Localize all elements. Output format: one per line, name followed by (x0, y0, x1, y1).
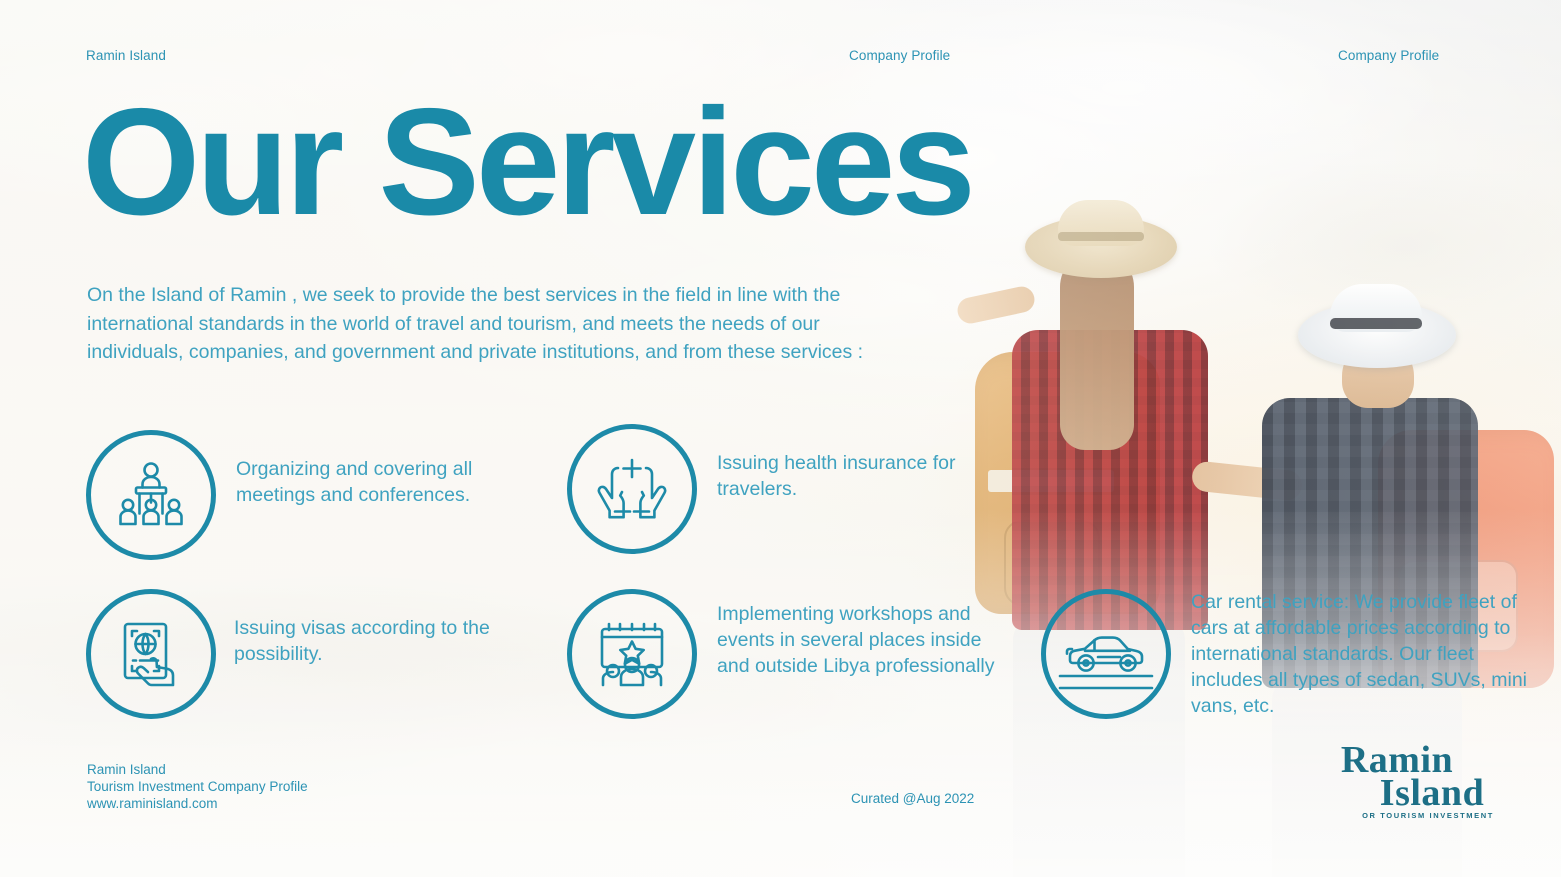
hands-medical-cross-icon (567, 424, 697, 554)
footer-curated-date: Curated @Aug 2022 (851, 791, 974, 806)
slide-canvas: Ramin Island Company Profile Company Pro… (0, 0, 1561, 877)
footer-website[interactable]: www.raminisland.com (87, 795, 308, 812)
header-left-label: Ramin Island (86, 48, 166, 63)
service-item-conferences[interactable]: Organizing and covering all meetings and… (86, 430, 504, 560)
conference-presentation-icon (86, 430, 216, 560)
header-middle-label: Company Profile (849, 48, 950, 63)
intro-paragraph: On the Island of Ramin , we seek to prov… (87, 281, 917, 367)
logo-line-two: Island (1364, 776, 1500, 810)
car-on-road-icon (1041, 589, 1171, 719)
service-label-car-rental: Car rental service: We provide fleet of … (1191, 589, 1536, 719)
ramin-island-logo: Ramin Island OR TOURISM INVESTMENT (1330, 744, 1500, 812)
footer-company-name: Ramin Island (87, 761, 308, 778)
service-item-car-rental[interactable]: Car rental service: We provide fleet of … (1041, 589, 1536, 719)
footer-left-block: Ramin Island Tourism Investment Company … (87, 761, 308, 812)
slide-content: Ramin Island Company Profile Company Pro… (0, 0, 1561, 877)
service-label-conferences: Organizing and covering all meetings and… (236, 430, 504, 508)
service-item-workshops-events[interactable]: Implementing workshops and events in sev… (567, 589, 1017, 719)
footer-descriptor: Tourism Investment Company Profile (87, 778, 308, 795)
service-item-health-insurance[interactable]: Issuing health insurance for travelers. (567, 424, 957, 554)
service-label-workshops-events: Implementing workshops and events in sev… (717, 589, 1017, 679)
event-board-audience-icon (567, 589, 697, 719)
page-title: Our Services (82, 86, 972, 238)
service-item-visas[interactable]: Issuing visas according to the possibili… (86, 589, 494, 719)
passport-hand-globe-icon (86, 589, 216, 719)
header-right-label: Company Profile (1338, 48, 1439, 63)
service-label-visas: Issuing visas according to the possibili… (234, 589, 494, 667)
logo-tagline: OR TOURISM INVESTMENT (1356, 811, 1500, 820)
service-label-health-insurance: Issuing health insurance for travelers. (717, 424, 957, 502)
